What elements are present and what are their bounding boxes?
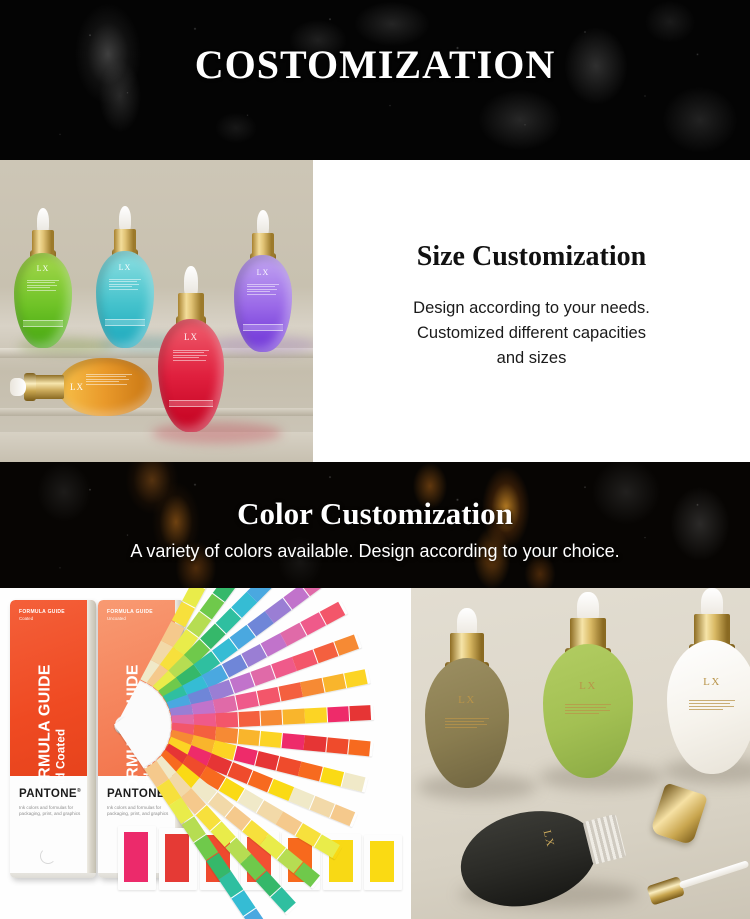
bottle-brand-label: LX <box>543 680 633 692</box>
color-swatch <box>341 772 366 792</box>
color-swatch <box>370 841 394 882</box>
color-swatch <box>283 709 305 725</box>
color-section-title: Color Customization <box>0 496 750 532</box>
color-swatch <box>260 710 282 726</box>
color-swatch <box>255 751 280 771</box>
pipette-tube <box>679 860 750 889</box>
bottle-brand-label: LX <box>234 268 292 277</box>
color-swatch <box>257 687 281 706</box>
color-swatch <box>216 712 238 728</box>
dropper-teat <box>10 378 26 396</box>
color-swatch <box>327 706 349 722</box>
bottle-footer-band <box>105 319 144 326</box>
customization-page: COSTOMIZATION LX <box>0 0 750 919</box>
bottle-brand-label: LX <box>70 382 84 392</box>
bottle-brand-label: LX <box>158 332 224 342</box>
gold-neck <box>32 375 64 399</box>
green-matte-bottle: LX <box>543 592 633 778</box>
pantone-swatch-card <box>118 826 156 890</box>
guide-page-edges <box>87 600 96 878</box>
khaki-matte-bottle: LX <box>425 608 509 788</box>
color-swatch <box>344 669 368 688</box>
bottle-text-lines <box>689 698 736 712</box>
bottle-text-lines <box>27 278 59 293</box>
color-swatch <box>282 733 305 750</box>
color-swatch <box>320 767 345 787</box>
bottom-gallery-section: FORMULA GUIDE Coated FORMULA GUIDE Solid… <box>0 588 750 919</box>
color-swatch <box>237 729 260 746</box>
color-swatch <box>330 804 356 826</box>
gold-neck <box>32 230 54 254</box>
page-title: COSTOMIZATION <box>0 41 750 88</box>
color-swatch <box>277 756 302 776</box>
color-swatch <box>124 832 148 882</box>
bottle-text-lines <box>86 372 132 387</box>
color-swatch <box>235 691 259 710</box>
size-desc-line: Design according to your needs. <box>361 296 702 321</box>
color-swatch <box>260 731 283 748</box>
color-swatch <box>349 705 371 721</box>
guide-notch-icon <box>40 848 56 864</box>
guide-header-label: FORMULA GUIDE <box>107 609 153 615</box>
guide-fine-print: Ink colors and formulas for packaging, p… <box>107 805 177 818</box>
guide-title: FORMULA GUIDE <box>37 622 55 802</box>
green-serum-bottle: LX <box>14 208 72 348</box>
bottle-text-lines <box>565 702 612 716</box>
color-swatch <box>305 707 327 723</box>
bottle-text-lines <box>247 282 279 297</box>
color-swatch <box>348 739 371 756</box>
bottle-footer-band <box>243 324 282 331</box>
matte-serum-bottles-photo: LX LX LX <box>411 588 750 919</box>
size-desc-line: and sizes <box>361 346 702 371</box>
color-swatch <box>298 762 323 782</box>
guide-fine-print: Ink colors and formulas for packaging, p… <box>19 805 89 818</box>
bottle-brand-label: LX <box>96 263 154 272</box>
bottle-brand-label: LX <box>667 676 750 688</box>
size-text-panel: Size Customization Design according to y… <box>313 160 750 462</box>
bottle-text-lines <box>109 277 141 292</box>
color-swatch <box>279 682 303 701</box>
color-swatch <box>304 735 327 752</box>
serum-dropper-bottles-photo: LX LX <box>0 160 313 462</box>
gold-neck <box>178 293 203 321</box>
header-banner: COSTOMIZATION <box>0 0 750 160</box>
glass-pipette <box>646 854 750 905</box>
white-matte-bottle: LX <box>667 588 750 774</box>
color-swatch <box>334 634 359 655</box>
bottle-footer-band <box>169 400 214 407</box>
pantone-wordmark: PANTONE® <box>19 788 81 800</box>
bottle-text-lines <box>173 348 210 363</box>
color-swatch <box>300 678 324 697</box>
color-swatch <box>233 746 258 766</box>
guide-base <box>10 873 96 878</box>
registered-mark: ® <box>77 788 81 794</box>
guide-header-sub: Coated <box>19 616 33 621</box>
gold-collar <box>646 876 685 906</box>
color-swatch <box>165 834 189 883</box>
bottle-brand-label: LX <box>14 264 72 273</box>
size-desc-line: Customized different capacities <box>361 321 702 346</box>
pantone-formula-guide-photo: FORMULA GUIDE Coated FORMULA GUIDE Solid… <box>0 588 410 919</box>
color-swatch <box>326 737 349 754</box>
guide-header-label: FORMULA GUIDE <box>19 609 65 615</box>
guide-header-sub: Uncoated <box>107 616 126 621</box>
gold-neck <box>114 229 136 253</box>
size-section-title: Size Customization <box>313 241 750 273</box>
gold-cap <box>650 782 708 845</box>
purple-serum-bottle: LX <box>234 210 292 352</box>
size-section-description: Design according to your needs. Customiz… <box>361 296 702 371</box>
bottle-text-lines <box>445 716 489 730</box>
amber-serum-bottle: LX <box>10 358 152 416</box>
red-serum-bottle: LX <box>158 266 224 432</box>
guide-title-vertical: FORMULA GUIDE Solid Coated <box>37 622 68 802</box>
bottle-footer-band <box>23 320 62 327</box>
teal-serum-bottle: LX <box>96 206 154 348</box>
guide-subtitle: Solid Coated <box>56 622 68 802</box>
pantone-swatch-card <box>364 835 402 890</box>
size-customization-section: LX LX <box>0 160 750 462</box>
bottle-brand-label: LX <box>425 694 509 706</box>
pantone-guide-coated: FORMULA GUIDE Coated FORMULA GUIDE Solid… <box>10 600 96 878</box>
color-swatch <box>322 674 346 693</box>
color-section-subtitle: A variety of colors available. Design ac… <box>0 541 750 562</box>
gold-neck <box>252 233 274 257</box>
color-swatch <box>238 711 260 727</box>
